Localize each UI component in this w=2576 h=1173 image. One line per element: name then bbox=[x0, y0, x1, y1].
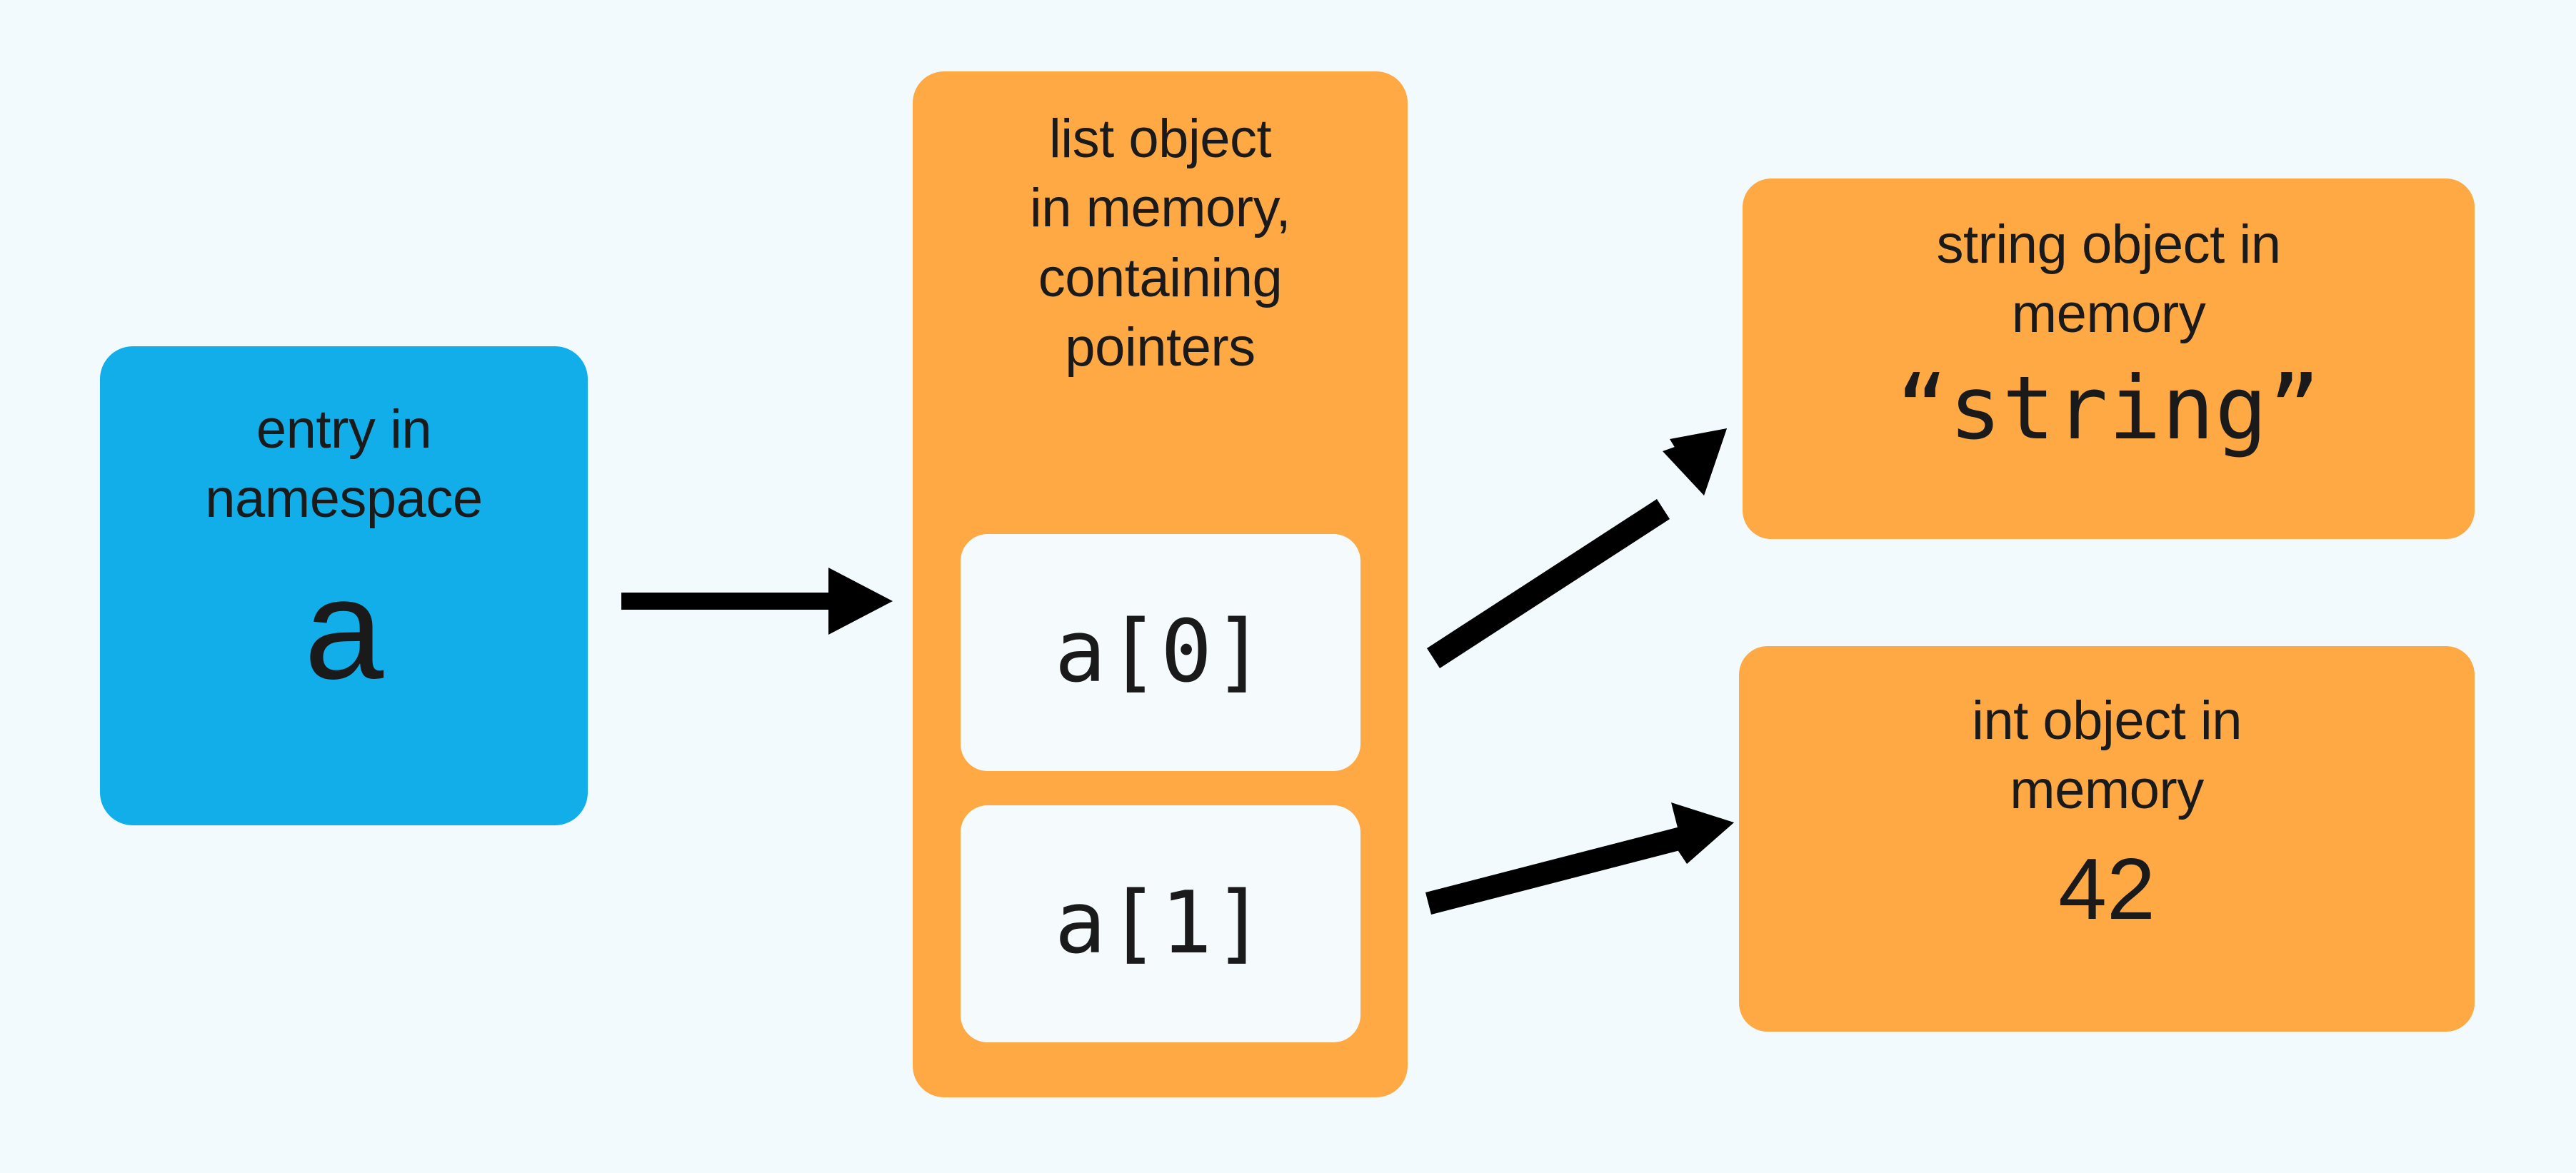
int-object-box: int object in memory 42 bbox=[1739, 646, 2475, 1032]
namespace-variable-name: a bbox=[304, 558, 384, 701]
list-caption-line-4: pointers bbox=[1065, 313, 1255, 382]
string-caption-line-1: string object in bbox=[1936, 210, 2280, 279]
int-caption-line-2: memory bbox=[2010, 755, 2203, 825]
list-object-box: list object in memory, containing pointe… bbox=[913, 71, 1408, 1097]
list-slot-0: a[0] bbox=[961, 534, 1360, 771]
diagram-canvas: entry in namespace a list object in memo… bbox=[0, 0, 2576, 1173]
int-caption-line-1: int object in bbox=[1972, 686, 2242, 755]
string-object-box: string object in memory “string” bbox=[1743, 178, 2475, 539]
namespace-caption-line-1: entry in bbox=[256, 395, 431, 464]
int-object-value: 42 bbox=[2058, 845, 2155, 932]
list-caption-line-1: list object bbox=[1049, 104, 1271, 173]
list-slot-1-label: a[1] bbox=[1055, 881, 1267, 967]
arrow-slot0-to-string-object bbox=[1421, 400, 1793, 671]
arrow-slot1-to-int-object bbox=[1421, 800, 1793, 1042]
list-slot-1: a[1] bbox=[961, 805, 1360, 1042]
namespace-entry-box: entry in namespace a bbox=[100, 346, 588, 825]
list-slot-0-label: a[0] bbox=[1055, 610, 1267, 695]
arrow-namespace-to-list bbox=[621, 550, 928, 650]
list-caption-line-3: containing bbox=[1038, 243, 1283, 313]
string-object-value: “string” bbox=[1896, 365, 2322, 452]
list-caption-line-2: in memory, bbox=[1030, 173, 1290, 243]
namespace-caption-line-2: namespace bbox=[205, 464, 482, 533]
string-caption-line-2: memory bbox=[2012, 279, 2205, 348]
